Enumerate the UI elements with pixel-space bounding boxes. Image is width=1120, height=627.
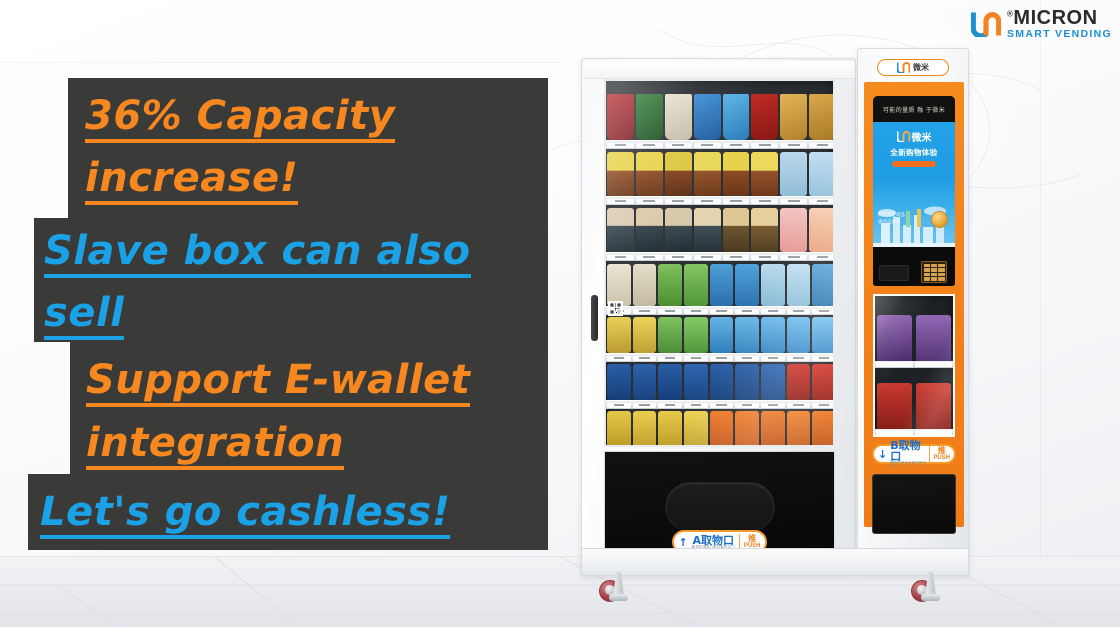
product-item [636,152,663,196]
product-item [751,152,778,196]
product-item [607,152,634,196]
price-tag [658,403,682,408]
product-item [607,264,631,306]
price-tag [665,255,692,260]
product-item [812,364,835,400]
can-shelf-3 [606,409,835,447]
price-tag [607,403,631,408]
product-item [710,364,734,400]
product-item [761,411,785,447]
price-tag [633,309,657,314]
product-item [812,317,835,353]
pickup-arrow-b-icon: ↓ [878,448,887,461]
product-item [607,411,631,447]
push-marker-b: 推 PUSH [933,447,950,461]
product-row [606,316,835,353]
product-item [658,364,682,400]
bottle-shelf-2 [606,205,835,261]
price-tag [812,309,835,314]
delivery-bin-b[interactable] [872,474,956,534]
pickup-port-label-b: ↓ B取物口 取货时请用力推开取货口门 推 PUSH [872,444,956,464]
slave-box-b[interactable]: 微米 可能的量质 融 于微米 微米 [857,48,969,576]
price-tag [780,143,807,148]
product-row [606,363,835,400]
price-tag [694,143,721,148]
headline-line-1: 36% Capacity [85,96,395,136]
product-item [658,317,682,353]
kiosk-screen-body: 微米 全新购物体验 [873,122,955,247]
bottle-shelf-3 [606,261,835,315]
price-tag [809,199,835,204]
pickup-label-b: B取物口 [890,440,926,462]
kiosk-hint-text: 购买指定商品 请点击此处 [878,213,905,227]
headline-line-2: increase! [85,158,298,198]
headline-line-3: Slave box can also [44,231,471,271]
product-item [723,152,750,196]
price-tag [751,255,778,260]
product-item [633,411,657,447]
product-row [606,409,835,447]
product-item [710,317,734,353]
headline-line-5: Support E-wallet [86,360,470,400]
product-item [780,152,807,196]
shelf-price-rail [875,361,953,368]
product-item [607,317,631,353]
shelf-price-rail [606,196,835,205]
kiosk-touchscreen[interactable]: 可能的量质 融 于微米 微米 全新购物体验 [873,96,955,286]
product-item [761,364,785,400]
push-cn-b: 推 [938,447,946,455]
price-tag [658,309,682,314]
brand-tagline: SMART VENDING [1007,29,1112,40]
price-tag [735,309,759,314]
price-tag [636,143,663,148]
shelf-price-rail [875,429,953,436]
product-item [812,411,835,447]
badge-brand-cn: 微米 [913,62,929,73]
micron-u-logo-icon [897,62,910,73]
product-item [780,94,807,140]
price-tag [633,356,657,361]
product-item [636,94,663,140]
snack-shelf [606,87,835,149]
brand-logo: ®MICRON SMART VENDING [971,8,1112,40]
product-item [694,94,721,140]
price-tag [812,403,835,408]
headline-line-7: Let's go cashless! [40,492,450,532]
delivery-flap-a[interactable] [665,482,775,532]
kiosk-brand-cn: 微米 [912,129,932,144]
price-tag [780,255,807,260]
brand-name: ®MICRON [1007,8,1112,28]
product-row [606,94,835,140]
price-tag [809,143,835,148]
price-tag [607,255,634,260]
price-tag [710,309,734,314]
micron-u-logo-icon [971,11,1001,37]
product-item [633,364,657,400]
product-item [809,152,835,196]
product-item [761,317,785,353]
door-handle[interactable] [591,295,598,341]
slave-display-window [873,294,955,437]
price-tag [684,309,708,314]
micron-u-logo-icon [897,131,910,142]
price-tag [761,403,785,408]
product-item [684,317,708,353]
product-item [636,208,663,252]
kiosk-header-text: 可能的量质 融 于微米 [883,105,945,114]
product-item [809,208,835,252]
product-item [694,208,721,252]
divider [929,446,930,462]
price-tag [751,199,778,204]
product-item [735,317,759,353]
product-item [665,152,692,196]
headline-line-6: integration [86,423,344,463]
product-item [809,94,835,140]
product-item [633,264,657,306]
price-tag [684,356,708,361]
price-tag [607,199,634,204]
price-tag [809,255,835,260]
shelf-price-rail [606,400,835,409]
product-item [812,264,835,306]
kiosk-logo: 微米 [873,122,955,144]
kiosk-header-strip: 可能的量质 融 于微米 [873,96,955,122]
price-tag [633,403,657,408]
push-en-b: PUSH [933,455,950,461]
product-row [875,375,953,429]
price-tag [812,356,835,361]
noodle-cup [916,383,951,429]
price-tag [787,356,811,361]
kiosk-headline: 全新购物体验 [873,147,955,158]
pickup-subnote-b: 取货时请用力推开取货口门 [890,462,926,469]
price-tag [684,403,708,408]
price-tag [723,255,750,260]
product-item [735,411,759,447]
can-shelf-2 [606,362,835,409]
price-tag [735,356,759,361]
noodle-cup [877,315,912,361]
product-item [684,364,708,400]
price-tag [607,356,631,361]
card-reader-icon[interactable] [879,265,909,281]
can-shelf-1 [606,315,835,362]
product-item [787,264,811,306]
product-item [684,411,708,447]
shelf-price-rail [606,306,835,315]
product-item [710,264,734,306]
brand-name-text: MICRON [1013,7,1097,29]
product-item [787,317,811,353]
price-tag [723,143,750,148]
price-tag [787,309,811,314]
qr-code-sticker [608,301,623,316]
product-item [684,264,708,306]
slide-canvas: ↑ A取物口 取货时请用力推开取货口门 推 PUSH [0,0,1120,627]
price-tag [780,199,807,204]
product-item [633,317,657,353]
product-item [607,208,634,252]
slave-front-panel: 可能的量质 融 于微米 微米 全新购物体验 [864,82,964,527]
product-item [735,364,759,400]
shelf-price-rail [606,140,835,149]
price-tag [665,143,692,148]
product-item [607,364,631,400]
price-tag [787,403,811,408]
price-tag [735,403,759,408]
price-tag [761,309,785,314]
price-tag [636,199,663,204]
product-item [735,264,759,306]
pickup-arrow-a-icon: ↑ [679,536,688,549]
price-tag [751,143,778,148]
noodle-shelf-1 [875,304,953,368]
product-item [723,94,750,140]
price-tag [723,199,750,204]
price-tag [636,255,663,260]
kiosk-subpill [892,161,936,167]
product-item [787,364,811,400]
product-item [710,411,734,447]
product-display-window [604,79,835,447]
product-row [606,263,835,306]
product-row [875,307,953,361]
bottle-shelf-1 [606,149,835,205]
push-marker-a: 推 PUSH [744,535,761,549]
caster-wheel [599,572,625,602]
brand-text: ®MICRON SMART VENDING [1007,8,1112,40]
product-row [606,207,835,252]
caster-wheel [911,572,937,602]
push-cn-a: 推 [748,535,756,543]
noodle-cup [916,315,951,361]
product-item [658,411,682,447]
product-item [751,94,778,140]
coin-button-icon[interactable] [931,211,948,228]
shelf-price-rail [606,252,835,261]
noodle-cup [877,383,912,429]
product-item [723,208,750,252]
brand-badge-top: 微米 [877,59,949,76]
price-tag [710,403,734,408]
product-item [787,411,811,447]
product-item [658,264,682,306]
price-tag [665,199,692,204]
product-item [780,208,807,252]
product-item [665,208,692,252]
product-item [607,94,634,140]
kiosk-lower-panel: 购买指定商品 请点击此处 [873,247,955,286]
product-item [761,264,785,306]
price-tag [761,356,785,361]
price-tag [710,356,734,361]
price-tag [658,356,682,361]
vending-machine: ↑ A取物口 取货时请用力推开取货口门 推 PUSH [581,48,981,576]
price-tag [607,143,634,148]
price-tag [694,255,721,260]
master-cabinet-a[interactable]: ↑ A取物口 取货时请用力推开取货口门 推 PUSH [581,58,856,576]
headline-line-4: sell [44,293,124,333]
price-tag [694,199,721,204]
product-item [694,152,721,196]
product-row [606,151,835,196]
product-item [665,94,692,140]
keypad-icon[interactable] [921,261,947,283]
cabinet-top-trim [584,61,855,79]
noodle-shelf-2 [875,372,953,436]
product-item [751,208,778,252]
shelf-price-rail [606,353,835,362]
